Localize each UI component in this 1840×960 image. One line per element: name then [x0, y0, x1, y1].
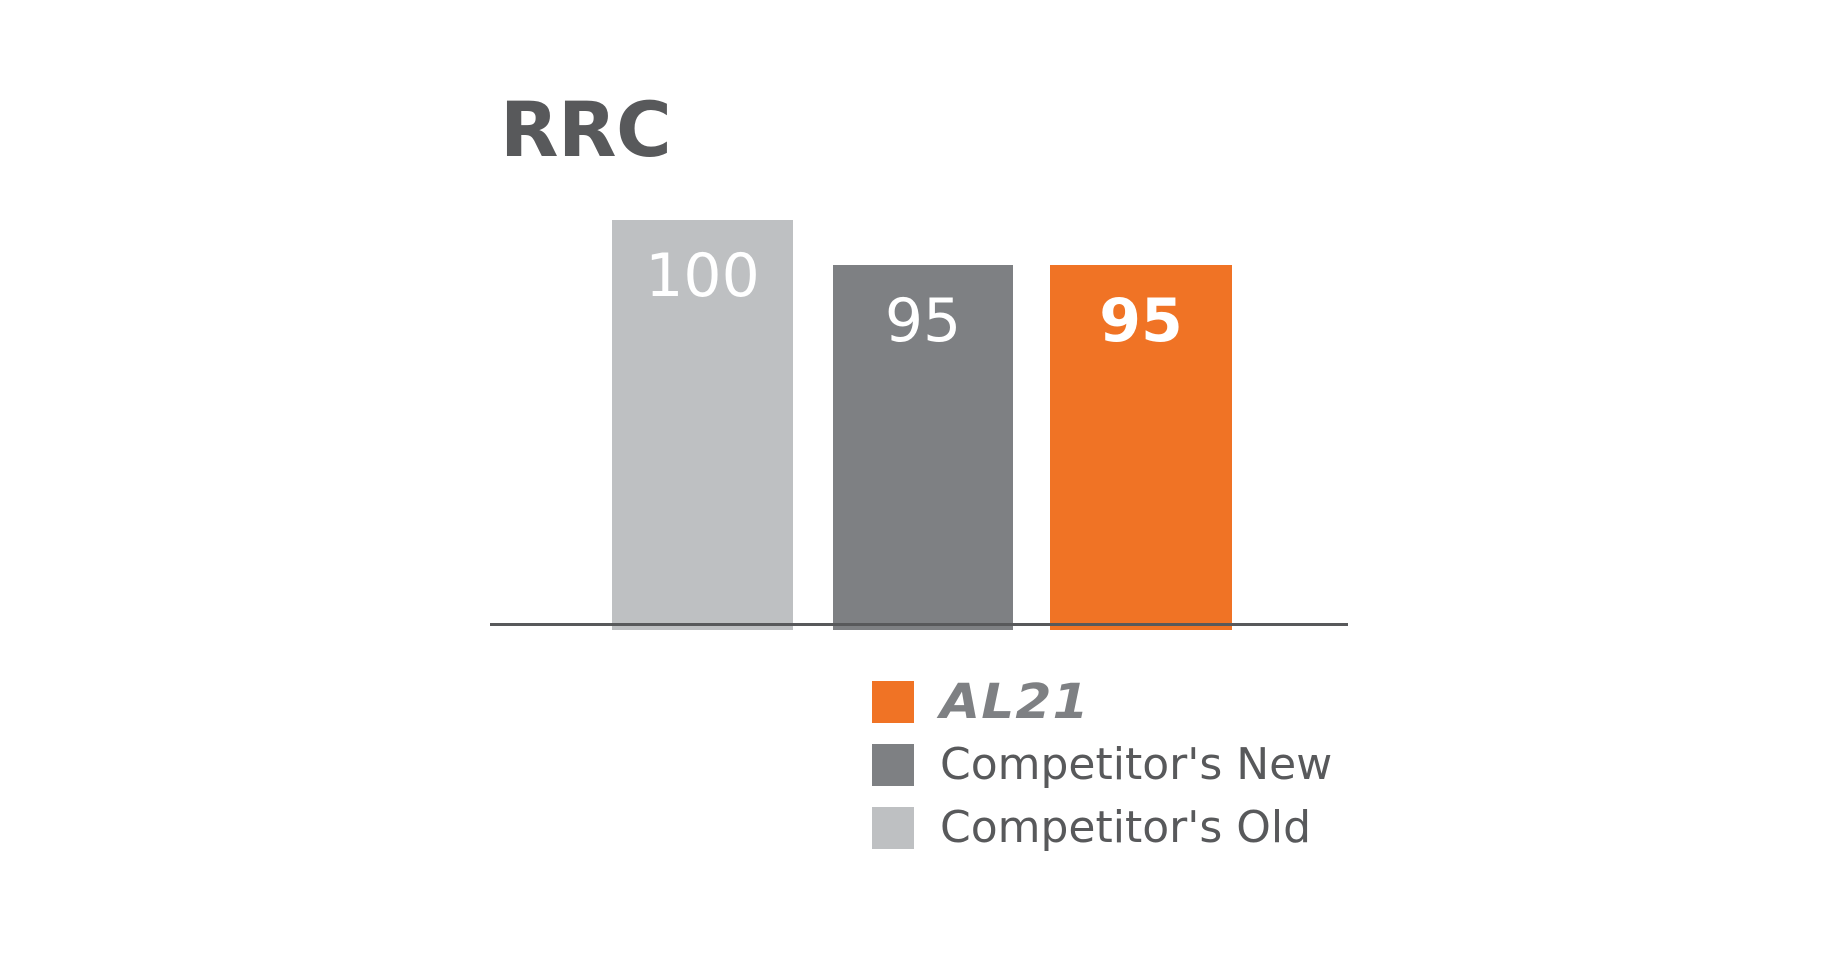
bar-value-label: 95	[833, 291, 1013, 351]
legend-item-competitors-old[interactable]: Competitor's Old	[872, 796, 1332, 859]
legend-swatch-icon	[872, 681, 914, 723]
baseline-axis	[490, 623, 1348, 626]
bar-competitors-old: 100	[612, 220, 793, 630]
legend-item-label: AL21	[940, 678, 1090, 726]
bar-competitors-new: 95	[833, 265, 1013, 630]
legend-swatch-icon	[872, 744, 914, 786]
legend-swatch-icon	[872, 807, 914, 849]
legend-item-al21[interactable]: AL21	[872, 670, 1332, 733]
legend-item-label: Competitor's New	[940, 743, 1332, 787]
bar-value-label: 100	[612, 246, 793, 306]
bar-value-label: 95	[1050, 291, 1232, 351]
chart-container: RRC 100 95 95 AL21 Competitor's New Com	[0, 0, 1840, 960]
legend-item-competitors-new[interactable]: Competitor's New	[872, 733, 1332, 796]
chart-legend: AL21 Competitor's New Competitor's Old	[872, 670, 1332, 859]
bar-al21: 95	[1050, 265, 1232, 630]
legend-item-label: Competitor's Old	[940, 806, 1311, 850]
